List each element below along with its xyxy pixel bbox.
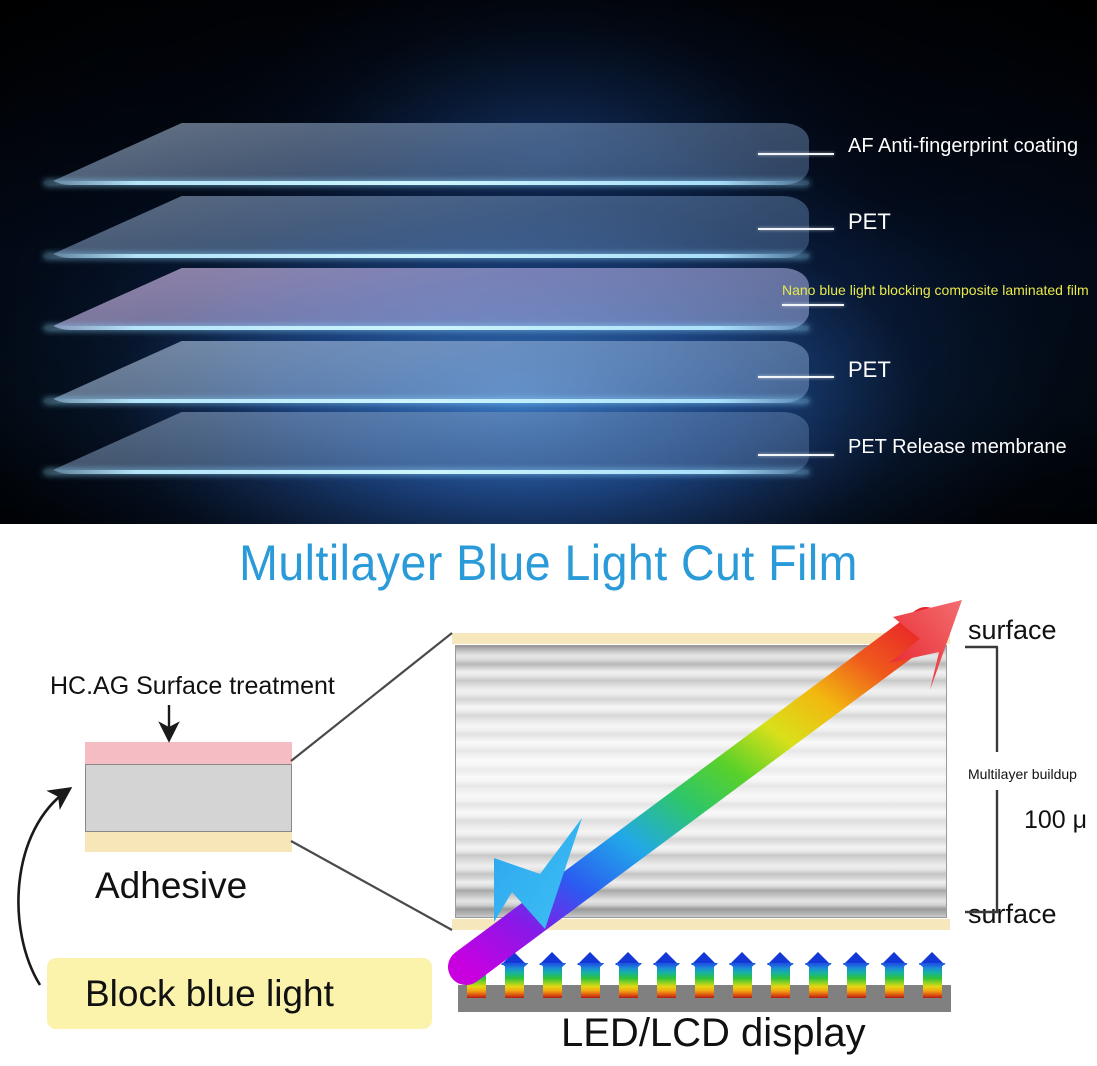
leader-line-pet-upper <box>758 228 834 230</box>
leader-line-nano <box>782 304 844 306</box>
led-pixel-spectrum <box>657 964 676 998</box>
multilayer-buildup-label: Multilayer buildup <box>968 766 1077 782</box>
led-pixel <box>615 952 642 998</box>
sheet-nano-film <box>44 268 809 330</box>
led-pixel <box>881 952 908 998</box>
label-nano-film-text: Nano blue light blocking composite lamin… <box>782 282 1089 298</box>
layer-exploded-view: AF Anti-fingerprint coating PET Nano blu… <box>0 0 1097 524</box>
hc-ag-label: HC.AG Surface treatment <box>50 672 335 701</box>
led-pixel-spectrum <box>695 964 714 998</box>
led-pixel-spectrum <box>923 964 942 998</box>
label-release-membrane-text: PET Release membrane <box>848 436 1067 459</box>
adhesive-label: Adhesive <box>95 865 247 907</box>
film-top-surface-band <box>452 633 950 644</box>
led-pixel <box>653 952 680 998</box>
film-multilayer-core <box>455 645 947 918</box>
led-pixel-spectrum <box>505 964 524 998</box>
led-pixel-spectrum <box>543 964 562 998</box>
block-blue-light-callout: Block blue light <box>47 958 432 1029</box>
page-title: Multilayer Blue Light Cut Film <box>38 534 1058 592</box>
surface-bottom-label: surface <box>968 899 1057 930</box>
magnified-film-panel <box>452 633 950 930</box>
sheet-pet-lower <box>44 341 809 403</box>
film-cross-section-block <box>85 742 292 852</box>
led-pixel <box>805 952 832 998</box>
product-infographic: AF Anti-fingerprint coating PET Nano blu… <box>0 0 1097 1066</box>
block-blue-light-pointer-arrow <box>18 790 68 985</box>
led-pixel <box>843 952 870 998</box>
led-pixel <box>767 952 794 998</box>
led-pixel-spectrum <box>619 964 638 998</box>
thickness-label: 100 μ <box>1024 806 1087 835</box>
led-pixel-spectrum <box>771 964 790 998</box>
film-bottom-surface-band <box>452 919 950 930</box>
led-pixel <box>577 952 604 998</box>
adhesive-layer <box>85 832 292 852</box>
led-pixel <box>729 952 756 998</box>
label-pet-lower-text: PET <box>848 357 891 383</box>
led-pixel-spectrum <box>733 964 752 998</box>
led-pixel-spectrum <box>809 964 828 998</box>
led-pixel-row <box>458 952 951 998</box>
block-blue-light-label: Block blue light <box>85 973 334 1015</box>
led-pixel <box>501 952 528 998</box>
led-pixel <box>919 952 946 998</box>
led-pixel <box>691 952 718 998</box>
led-pixel-spectrum <box>885 964 904 998</box>
led-pixel <box>539 952 566 998</box>
display-label: LED/LCD display <box>561 1011 866 1056</box>
leader-line-pet-lower <box>758 376 834 378</box>
hc-ag-layer <box>85 742 292 764</box>
sheet-af-coating <box>44 123 809 185</box>
led-pixel-spectrum <box>847 964 866 998</box>
leader-line-af <box>758 153 834 155</box>
film-core-layer <box>85 764 292 832</box>
led-pixel-spectrum <box>581 964 600 998</box>
leader-line-release <box>758 454 834 456</box>
led-pixel-spectrum <box>467 964 486 998</box>
sheet-release-membrane <box>44 412 809 474</box>
label-pet-upper-text: PET <box>848 209 891 235</box>
sheet-pet-upper <box>44 196 809 258</box>
label-af-text: AF Anti-fingerprint coating <box>848 135 1078 158</box>
surface-top-label: surface <box>968 615 1057 646</box>
led-pixel <box>463 952 490 998</box>
